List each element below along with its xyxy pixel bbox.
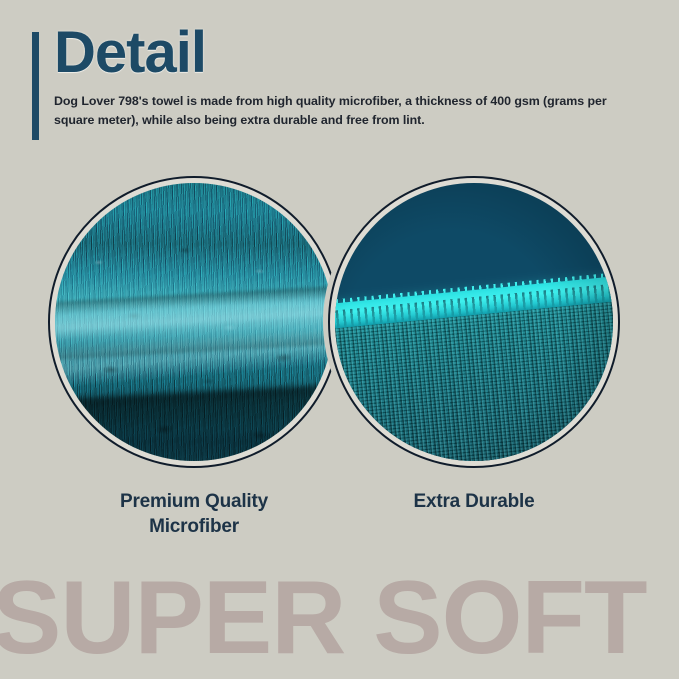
photo-vignette — [335, 183, 613, 461]
microfiber-photo — [55, 183, 333, 461]
feature-extra-durable: Extra Durable — [328, 176, 620, 515]
super-soft-watermark: SUPER SOFT — [0, 566, 679, 670]
feature-caption-right: Extra Durable — [328, 490, 620, 515]
product-description: Dog Lover 798's towel is made from high … — [54, 92, 614, 130]
feature-image-circle-right — [328, 176, 620, 468]
header-section: Detail Dog Lover 798's towel is made fro… — [32, 30, 632, 142]
feature-caption-left: Premium QualityMicrofiber — [48, 490, 340, 539]
stitching-photo — [335, 183, 613, 461]
feature-premium-quality-microfiber: Premium QualityMicrofiber — [48, 176, 340, 539]
feature-image-circle-left — [48, 176, 340, 468]
page-title: Detail — [54, 24, 206, 82]
title-accent-bar — [32, 32, 39, 140]
